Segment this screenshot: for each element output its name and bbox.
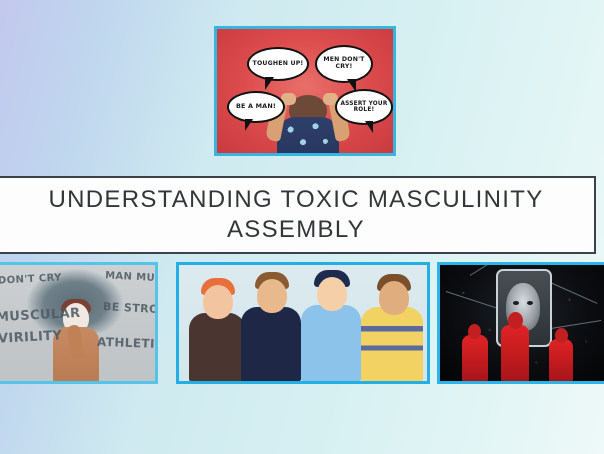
slide-canvas: TOUGHEN UP! MEN DON'T CRY! BE A MAN! ASS… bbox=[0, 0, 604, 454]
figure-navy-tee-head bbox=[257, 279, 287, 313]
dark-photo bbox=[437, 262, 604, 384]
speech-bubble-men-dont-cry: MEN DON'T CRY! bbox=[315, 45, 373, 83]
title-banner: UNDERSTANDING TOXIC MASCULINITY ASSEMBLY bbox=[0, 176, 596, 254]
red-figure-right-body bbox=[549, 339, 573, 381]
red-figure-center-head bbox=[508, 312, 523, 329]
graffiti-virility: VIRILITY bbox=[0, 329, 63, 346]
red-figure-left bbox=[460, 323, 490, 381]
figure-blue-hoodie-torso bbox=[301, 305, 361, 381]
dark-photo-inner bbox=[440, 265, 604, 381]
speech-bubble-toughen-up: TOUGHEN UP! bbox=[247, 47, 309, 81]
figure-yellow-sweater-head bbox=[379, 281, 409, 315]
figure-body bbox=[277, 117, 339, 153]
figure-yellow-sweater bbox=[357, 265, 425, 381]
speech-bubble-photo: TOUGHEN UP! MEN DON'T CRY! BE A MAN! ASS… bbox=[214, 26, 396, 156]
speech-bubble-be-a-man: BE A MAN! bbox=[227, 91, 285, 123]
figure-navy-tee bbox=[237, 265, 303, 381]
phone-face-left-eye bbox=[513, 301, 519, 305]
page-title: UNDERSTANDING TOXIC MASCULINITY ASSEMBLY bbox=[0, 185, 594, 245]
figure-ginger-hoodie-head bbox=[203, 285, 233, 319]
figure-blue-hoodie-head bbox=[317, 277, 347, 311]
phone-face-right-eye bbox=[527, 301, 533, 305]
figure-blue-hoodie bbox=[297, 265, 363, 381]
red-figure-center-body bbox=[501, 325, 529, 381]
speech-bubble-assert-your-role: ASSERT YOUR ROLE! bbox=[335, 89, 393, 125]
red-figure-left-head bbox=[468, 324, 481, 339]
red-figure-center bbox=[498, 311, 532, 381]
red-figure-right bbox=[548, 327, 576, 381]
friends-photo bbox=[176, 262, 430, 384]
red-figure-left-body bbox=[462, 335, 488, 381]
friends-photo-inner bbox=[179, 265, 427, 381]
sketch-photo-inner: DON'T CRY MUSCULAR VIRILITY MAN MUST BE … bbox=[0, 265, 155, 381]
speech-bubble-assert-your-role-text: ASSERT YOUR ROLE! bbox=[337, 101, 391, 114]
speech-bubble-be-a-man-text: BE A MAN! bbox=[236, 103, 276, 110]
red-figure-right-head bbox=[555, 328, 568, 343]
speech-bubble-toughen-up-text: TOUGHEN UP! bbox=[253, 61, 304, 68]
figure-yellow-sweater-torso bbox=[361, 307, 423, 381]
speech-bubble-photo-inner: TOUGHEN UP! MEN DON'T CRY! BE A MAN! ASS… bbox=[217, 29, 393, 153]
graffiti-athletic: ATHLETIC bbox=[97, 336, 155, 351]
figure-navy-tee-torso bbox=[241, 307, 301, 381]
speech-bubble-men-dont-cry-text: MEN DON'T CRY! bbox=[317, 57, 371, 71]
crack-line bbox=[548, 281, 598, 304]
sketch-photo: DON'T CRY MUSCULAR VIRILITY MAN MUST BE … bbox=[0, 262, 158, 384]
crack-line bbox=[446, 291, 503, 310]
